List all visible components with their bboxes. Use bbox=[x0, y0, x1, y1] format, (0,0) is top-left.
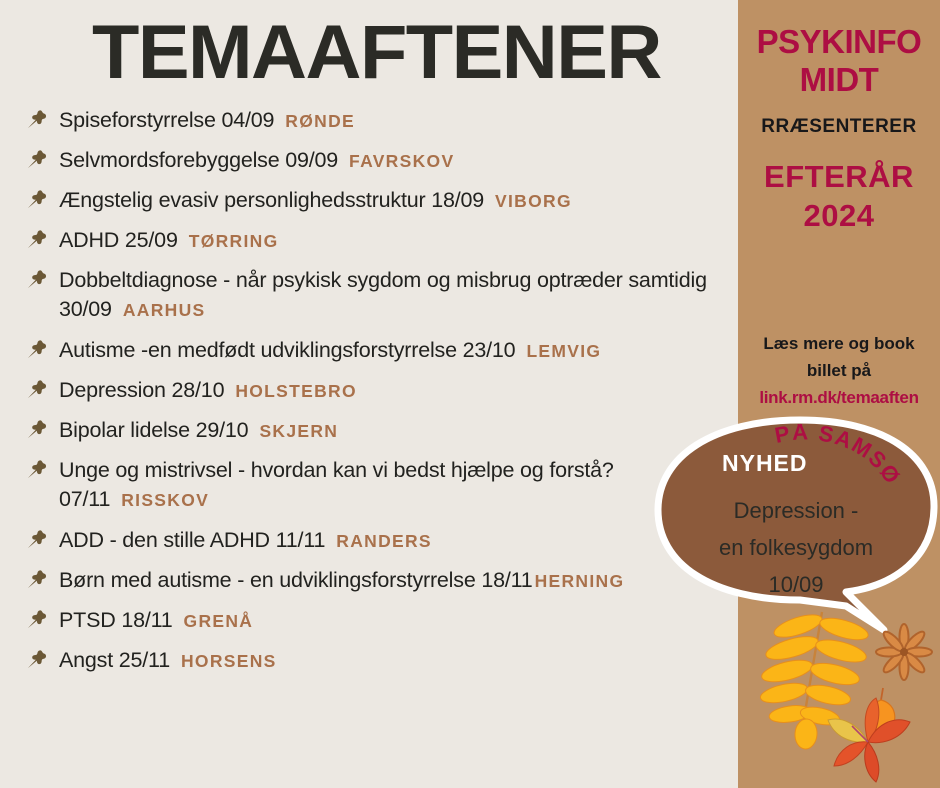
event-city: TØRRING bbox=[189, 231, 279, 251]
event-city: RØNDE bbox=[285, 111, 355, 131]
list-item[interactable]: Spiseforstyrrelse 04/09RØNDE bbox=[24, 106, 744, 135]
page-title: TEMAAFTENER bbox=[92, 9, 661, 96]
event-title: ADD - den stille ADHD 11/11 bbox=[59, 528, 325, 552]
event-text: Dobbeltdiagnose - når psykisk sygdom og … bbox=[59, 266, 744, 325]
event-text: ADHD 25/09TØRRING bbox=[59, 226, 279, 255]
pushpin-icon bbox=[24, 418, 50, 444]
red-green-chestnut-leaf bbox=[828, 698, 910, 782]
brand-name-line2: MIDT bbox=[738, 61, 940, 99]
event-city: AARHUS bbox=[123, 300, 206, 320]
nyhed-badge: NYHED bbox=[722, 450, 808, 477]
event-text: Ængstelig evasiv personlighedsstruktur 1… bbox=[59, 186, 572, 215]
pushpin-icon bbox=[24, 378, 50, 404]
event-city: VIBORG bbox=[495, 191, 572, 211]
bubble-line1: Depression - bbox=[672, 492, 920, 529]
event-title: Angst 25/11 bbox=[59, 648, 170, 672]
poster-canvas: TEMAAFTENER Spiseforstyrrelse 04/09RØNDE… bbox=[0, 0, 940, 788]
list-item[interactable]: ADHD 25/09TØRRING bbox=[24, 226, 744, 255]
event-list: Spiseforstyrrelse 04/09RØNDE Selvmordsfo… bbox=[24, 106, 744, 686]
list-item[interactable]: Bipolar lidelse 29/10SKJERN bbox=[24, 416, 744, 445]
event-city: GRENÅ bbox=[184, 611, 254, 631]
pushpin-icon bbox=[24, 188, 50, 214]
list-item[interactable]: Ængstelig evasiv personlighedsstruktur 1… bbox=[24, 186, 744, 215]
event-city: FAVRSKOV bbox=[349, 151, 454, 171]
list-item[interactable]: Børn med autisme - en udviklingsforstyrr… bbox=[24, 566, 744, 595]
booking-url-link[interactable]: link.rm.dk/temaaften bbox=[738, 384, 940, 411]
event-title: Spiseforstyrrelse 04/09 bbox=[59, 108, 274, 132]
star-anise bbox=[876, 624, 932, 680]
event-title: Bipolar lidelse 29/10 bbox=[59, 418, 248, 442]
booking-line2: billet på bbox=[738, 357, 940, 384]
pushpin-icon bbox=[24, 148, 50, 174]
bubble-line2: en folkesygdom bbox=[672, 529, 920, 566]
pushpin-icon bbox=[24, 338, 50, 364]
list-item[interactable]: Autisme -en medfødt udviklingsforstyrrel… bbox=[24, 336, 744, 365]
season-year: 2024 bbox=[738, 196, 940, 235]
event-city: RISSKOV bbox=[121, 490, 209, 510]
event-title: Depression 28/10 bbox=[59, 378, 224, 402]
pushpin-icon bbox=[24, 528, 50, 554]
event-title: ADHD 25/09 bbox=[59, 228, 178, 252]
event-text: ADD - den stille ADHD 11/11RANDERS bbox=[59, 526, 432, 555]
brand-name-line1: PSYKINFO bbox=[738, 23, 940, 61]
pushpin-icon bbox=[24, 458, 50, 484]
event-title: Ængstelig evasiv personlighedsstruktur 1… bbox=[59, 188, 484, 212]
season-label: EFTERÅR bbox=[738, 157, 940, 196]
event-title: Selvmordsforebyggelse 09/09 bbox=[59, 148, 338, 172]
event-text: Spiseforstyrrelse 04/09RØNDE bbox=[59, 106, 355, 135]
event-city: HORSENS bbox=[181, 651, 277, 671]
list-item[interactable]: Angst 25/11HORSENS bbox=[24, 646, 744, 675]
pushpin-icon bbox=[24, 608, 50, 634]
event-text: Depression 28/10HOLSTEBRO bbox=[59, 376, 357, 405]
pushpin-icon bbox=[24, 228, 50, 254]
list-item[interactable]: Dobbeltdiagnose - når psykisk sygdom og … bbox=[24, 266, 744, 325]
list-item[interactable]: ADD - den stille ADHD 11/11RANDERS bbox=[24, 526, 744, 555]
booking-info: Læs mere og book billet på link.rm.dk/te… bbox=[738, 330, 940, 411]
event-text: Børn med autisme - en udviklingsforstyrr… bbox=[59, 566, 624, 595]
pushpin-icon bbox=[24, 648, 50, 674]
list-item[interactable]: Selvmordsforebyggelse 09/09FAVRSKOV bbox=[24, 146, 744, 175]
event-city: LEMVIG bbox=[526, 341, 601, 361]
presents-label: RRÆSENTERER bbox=[738, 116, 940, 138]
event-text: Bipolar lidelse 29/10SKJERN bbox=[59, 416, 338, 445]
pushpin-icon bbox=[24, 268, 50, 294]
event-city: HERNING bbox=[535, 571, 625, 591]
list-item[interactable]: PTSD 18/11GRENÅ bbox=[24, 606, 744, 635]
autumn-leaves-decoration bbox=[740, 596, 940, 788]
event-city: HOLSTEBRO bbox=[235, 381, 357, 401]
event-text: Unge og mistrivsel - hvordan kan vi beds… bbox=[59, 456, 744, 515]
event-text: Selvmordsforebyggelse 09/09FAVRSKOV bbox=[59, 146, 454, 175]
event-title: PTSD 18/11 bbox=[59, 608, 173, 632]
pushpin-icon bbox=[24, 108, 50, 134]
list-item[interactable]: Depression 28/10HOLSTEBRO bbox=[24, 376, 744, 405]
booking-line1: Læs mere og book bbox=[738, 330, 940, 357]
event-city: SKJERN bbox=[259, 421, 338, 441]
list-item[interactable]: Unge og mistrivsel - hvordan kan vi beds… bbox=[24, 456, 744, 515]
event-title: Autisme -en medfødt udviklingsforstyrrel… bbox=[59, 338, 515, 362]
bubble-body-text: Depression - en folkesygdom 10/09 bbox=[672, 492, 920, 603]
event-text: Angst 25/11HORSENS bbox=[59, 646, 277, 675]
pushpin-icon bbox=[24, 568, 50, 594]
event-text: Autisme -en medfødt udviklingsforstyrrel… bbox=[59, 336, 601, 365]
event-text: PTSD 18/11GRENÅ bbox=[59, 606, 253, 635]
event-city: RANDERS bbox=[336, 531, 432, 551]
event-title: Børn med autisme - en udviklingsforstyrr… bbox=[59, 568, 533, 592]
